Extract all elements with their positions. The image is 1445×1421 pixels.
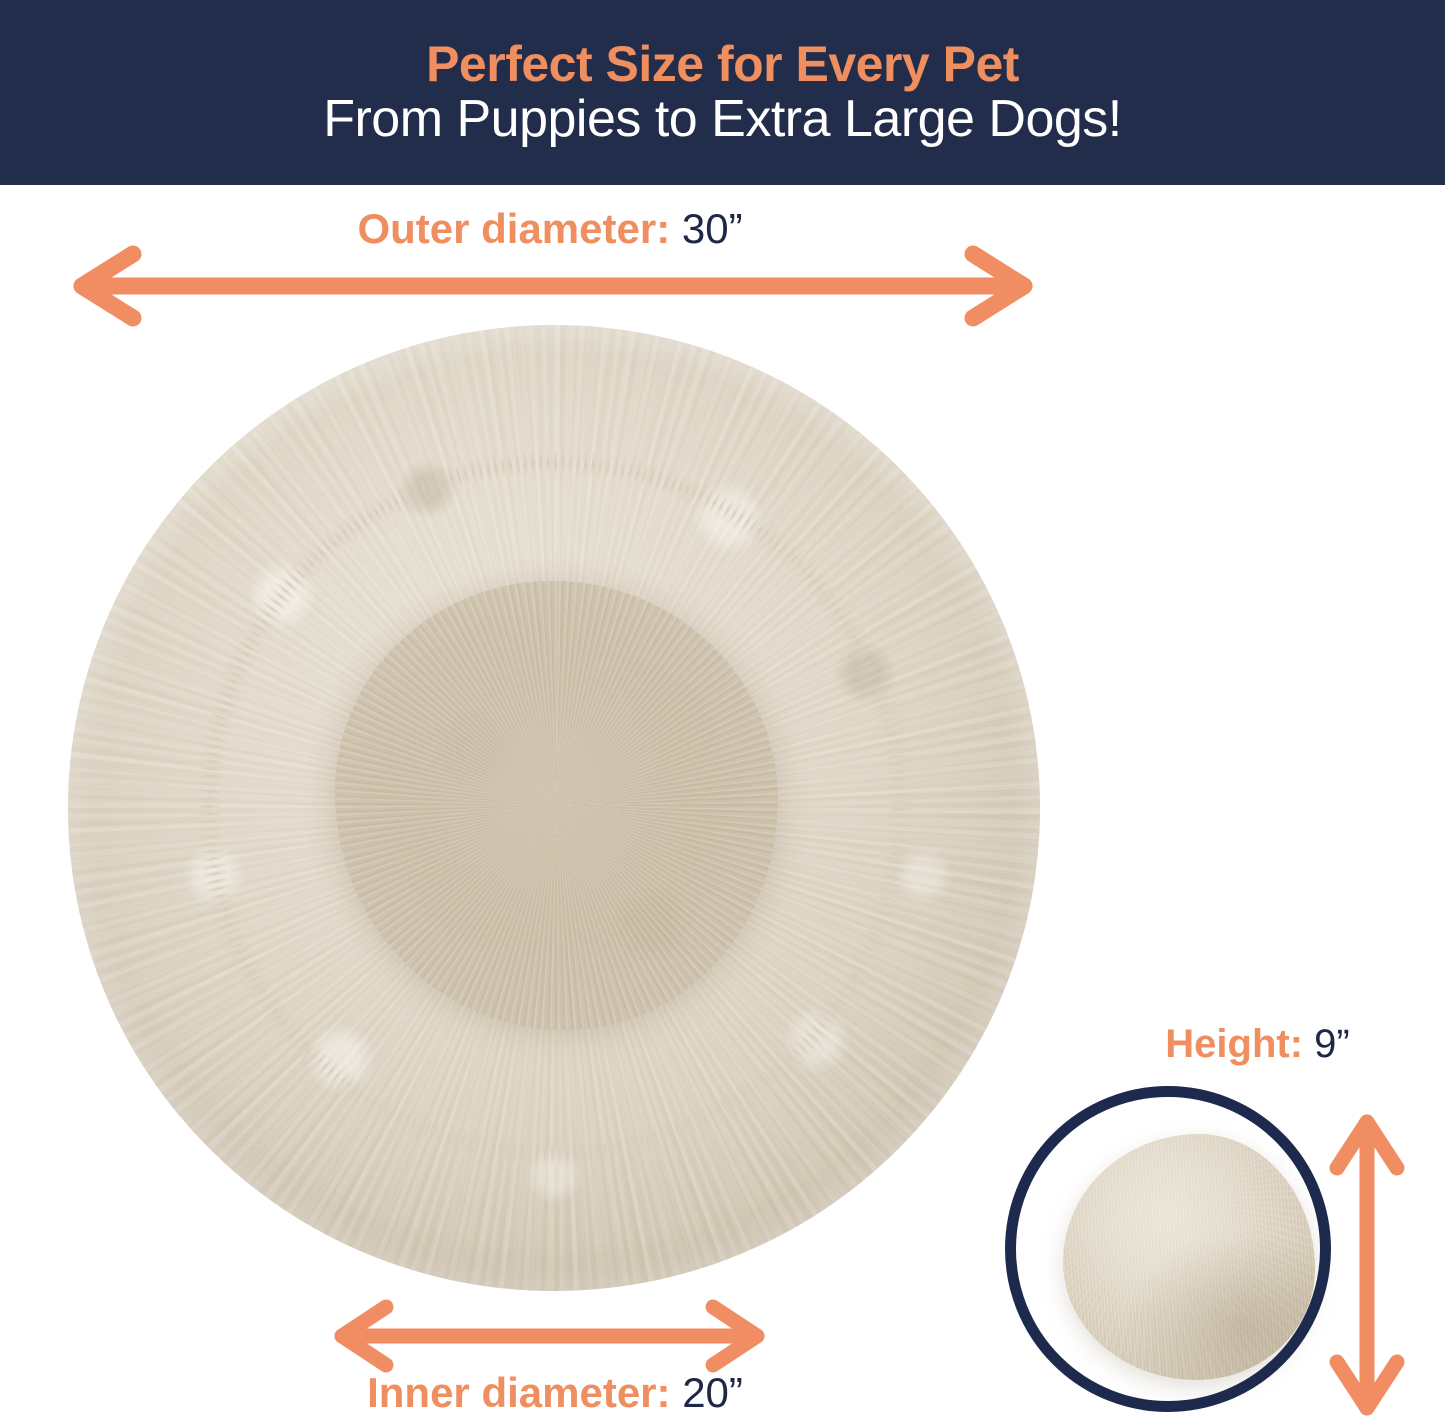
outer-diameter-label: Outer diameter: 30” — [0, 208, 1100, 250]
height-value: 9” — [1314, 1022, 1350, 1066]
inner-diameter-arrow-icon — [342, 1307, 757, 1365]
inner-diameter-label: Inner diameter: 20” — [210, 1372, 900, 1414]
page-title: Perfect Size for Every Pet — [426, 38, 1019, 91]
header-banner: Perfect Size for Every Pet From Puppies … — [0, 0, 1445, 185]
bed-edge-fuzz — [68, 325, 1040, 1291]
height-arrow-icon — [1337, 1122, 1397, 1408]
infographic-canvas: Perfect Size for Every Pet From Puppies … — [0, 0, 1445, 1421]
navy-ring-border — [1005, 1086, 1331, 1412]
inner-diameter-value: 20” — [682, 1369, 743, 1416]
outer-diameter-value: 30” — [682, 205, 743, 252]
height-label: Height: 9” — [1070, 1024, 1445, 1064]
page-subtitle: From Puppies to Extra Large Dogs! — [323, 92, 1122, 147]
outer-diameter-arrow-icon — [82, 254, 1024, 318]
height-inset-circle — [1005, 1086, 1331, 1412]
pet-bed-top-view — [68, 325, 1040, 1291]
inner-diameter-label-text: Inner diameter: — [367, 1369, 670, 1416]
outer-diameter-label-text: Outer diameter: — [357, 205, 670, 252]
height-label-text: Height: — [1165, 1022, 1303, 1066]
